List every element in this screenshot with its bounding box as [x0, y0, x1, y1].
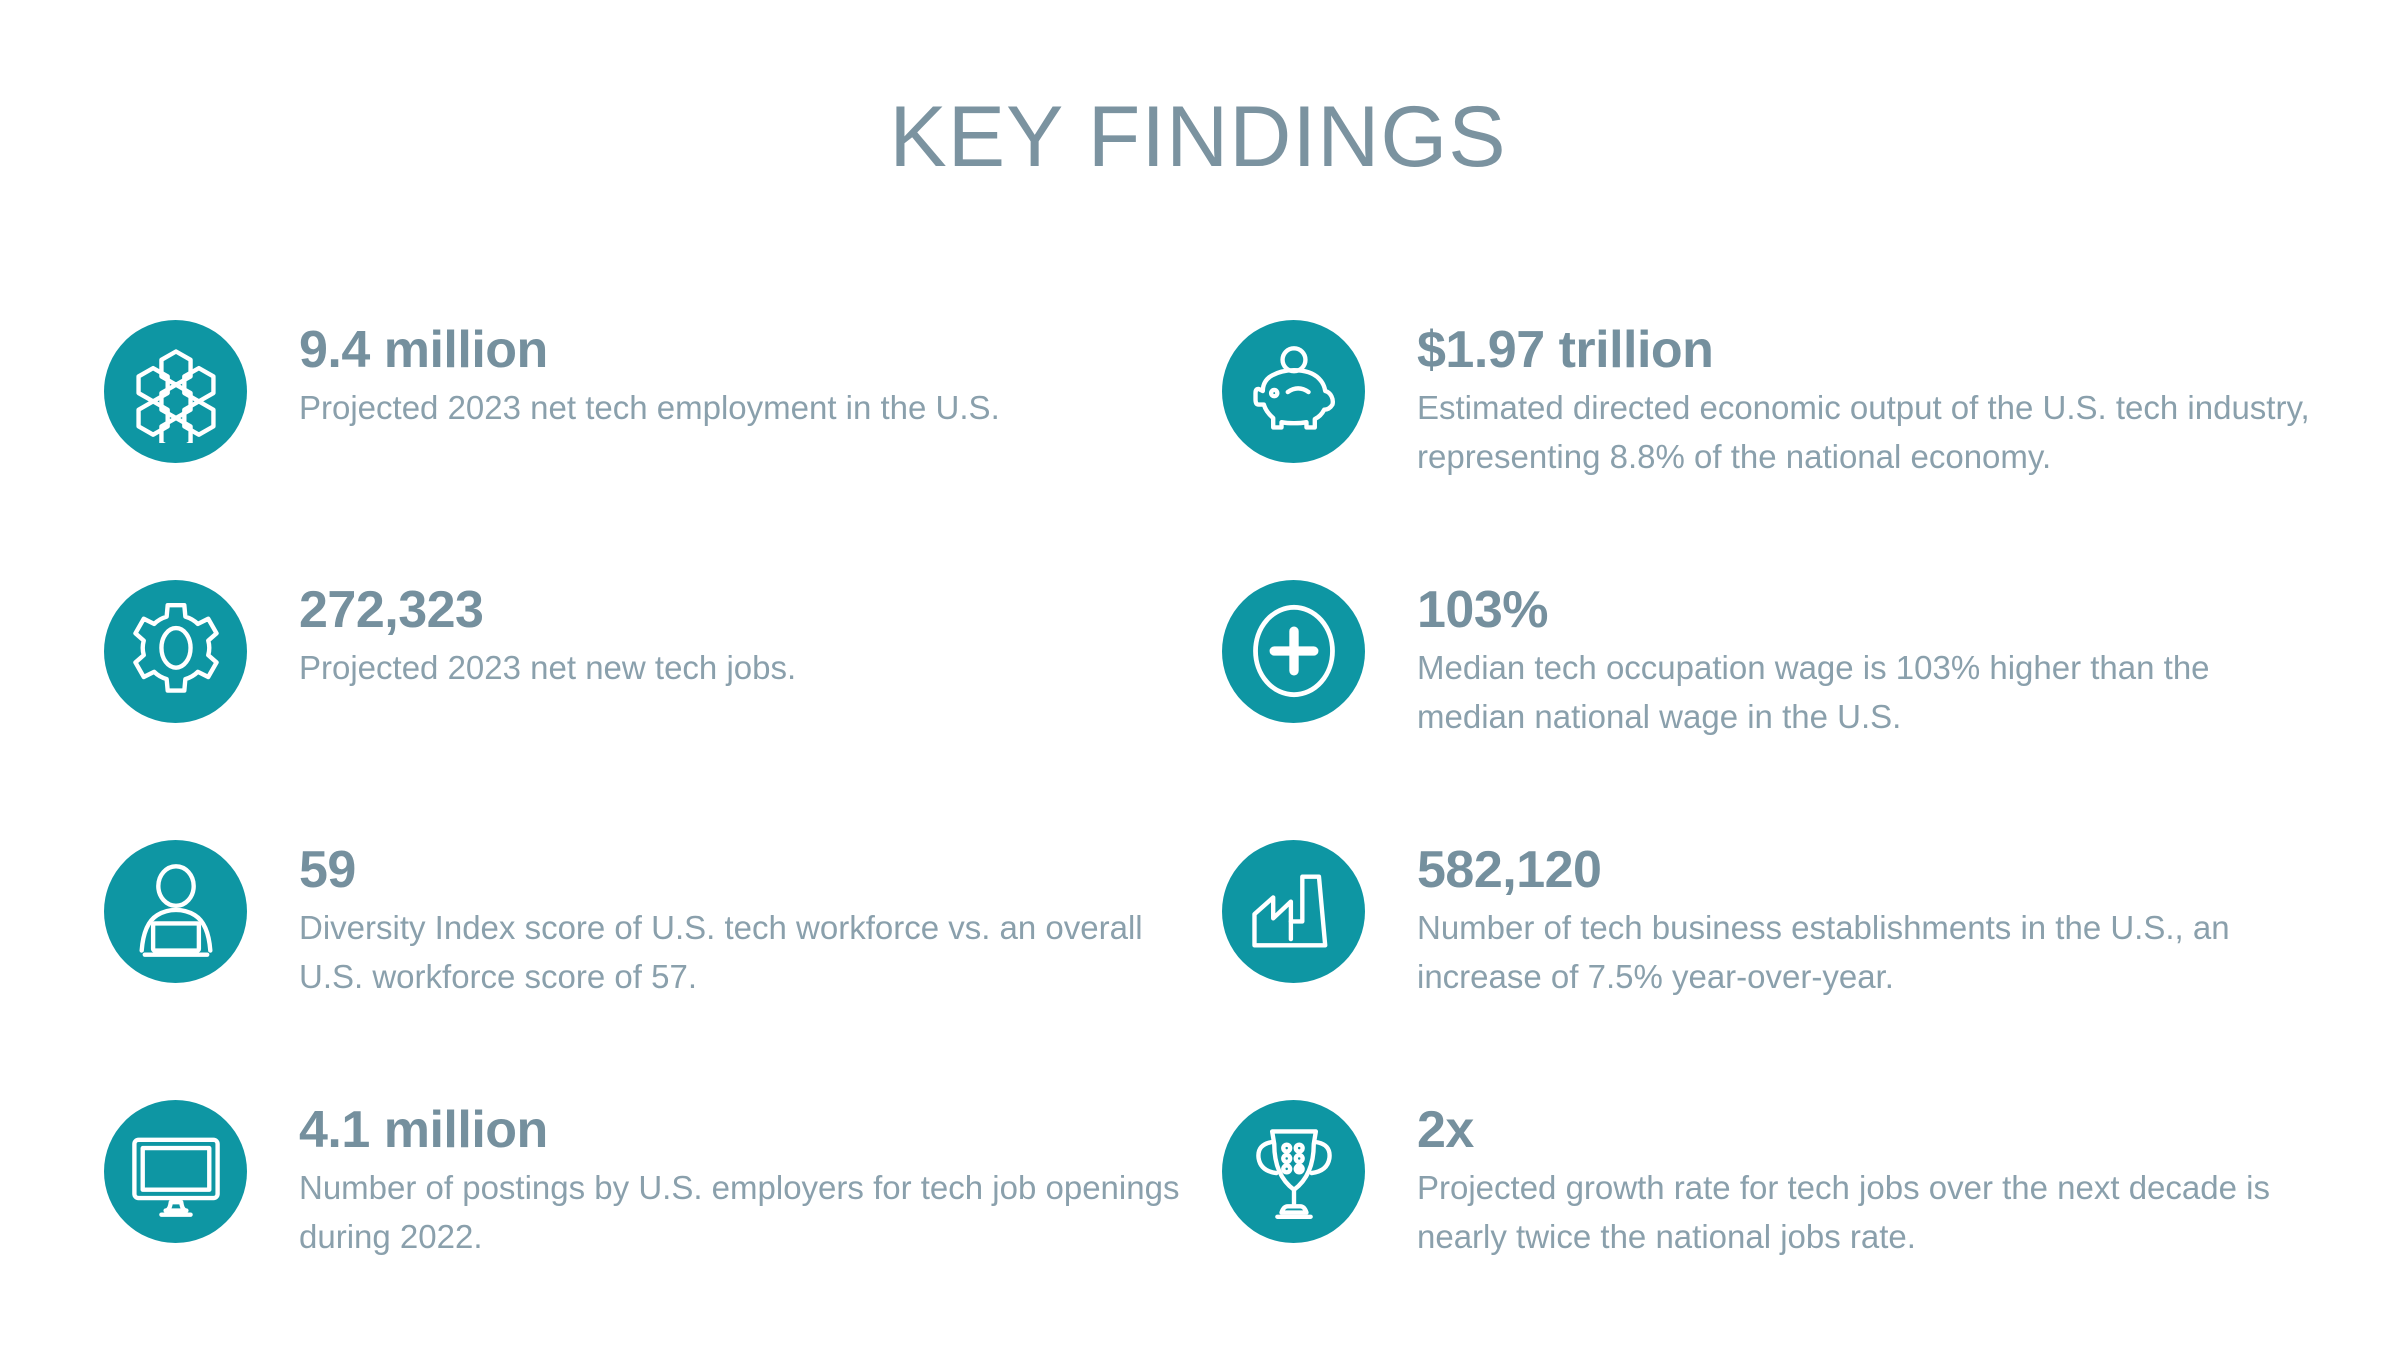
finding-text: 582,120 Number of tech business establis…	[1417, 810, 2317, 1002]
finding-item-diversity-index: 59 Diversity Index score of U.S. tech wo…	[0, 810, 1198, 1070]
gear-icon	[104, 580, 247, 723]
finding-item-net-new-tech-jobs: 272,323 Projected 2023 net new tech jobs…	[0, 550, 1198, 810]
finding-description: Number of postings by U.S. employers for…	[299, 1164, 1198, 1262]
finding-value: 582,120	[1417, 842, 2317, 898]
plus-circle-icon	[1222, 580, 1365, 723]
page-title: KEY FINDINGS	[0, 58, 2396, 168]
finding-value: $1.97 trillion	[1417, 322, 2317, 378]
finding-description: Projected 2023 net tech employment in th…	[299, 384, 1000, 433]
finding-text: 103% Median tech occupation wage is 103%…	[1417, 550, 2317, 742]
finding-value: 2x	[1417, 1102, 2317, 1158]
factory-icon	[1222, 840, 1365, 983]
finding-value: 59	[299, 842, 1198, 898]
finding-text: 9.4 million Projected 2023 net tech empl…	[299, 290, 1000, 433]
finding-text: 2x Projected growth rate for tech jobs o…	[1417, 1070, 2317, 1262]
trophy-icon	[1222, 1100, 1365, 1243]
finding-value: 103%	[1417, 582, 2317, 638]
finding-value: 272,323	[299, 582, 796, 638]
finding-description: Estimated directed economic output of th…	[1417, 384, 2317, 482]
finding-item-median-wage: 103% Median tech occupation wage is 103%…	[1198, 550, 2396, 810]
finding-item-job-postings: 4.1 million Number of postings by U.S. e…	[0, 1070, 1198, 1330]
finding-value: 9.4 million	[299, 322, 1000, 378]
person-at-computer-icon	[104, 840, 247, 983]
finding-text: 59 Diversity Index score of U.S. tech wo…	[299, 810, 1198, 1002]
findings-grid: 9.4 million Projected 2023 net tech empl…	[0, 290, 2396, 1330]
finding-item-net-tech-employment: 9.4 million Projected 2023 net tech empl…	[0, 290, 1198, 550]
finding-value: 4.1 million	[299, 1102, 1198, 1158]
finding-description: Projected growth rate for tech jobs over…	[1417, 1164, 2317, 1262]
finding-description: Projected 2023 net new tech jobs.	[299, 644, 796, 693]
finding-item-business-establishments: 582,120 Number of tech business establis…	[1198, 810, 2396, 1070]
piggy-bank-icon	[1222, 320, 1365, 463]
finding-text: $1.97 trillion Estimated directed econom…	[1417, 290, 2317, 482]
finding-description: Number of tech business establishments i…	[1417, 904, 2317, 1002]
monitor-icon	[104, 1100, 247, 1243]
finding-item-growth-rate: 2x Projected growth rate for tech jobs o…	[1198, 1070, 2396, 1330]
finding-description: Median tech occupation wage is 103% high…	[1417, 644, 2317, 742]
finding-text: 4.1 million Number of postings by U.S. e…	[299, 1070, 1198, 1262]
honeycomb-icon	[104, 320, 247, 463]
finding-item-economic-output: $1.97 trillion Estimated directed econom…	[1198, 290, 2396, 550]
finding-text: 272,323 Projected 2023 net new tech jobs…	[299, 550, 796, 693]
finding-description: Diversity Index score of U.S. tech workf…	[299, 904, 1198, 1002]
